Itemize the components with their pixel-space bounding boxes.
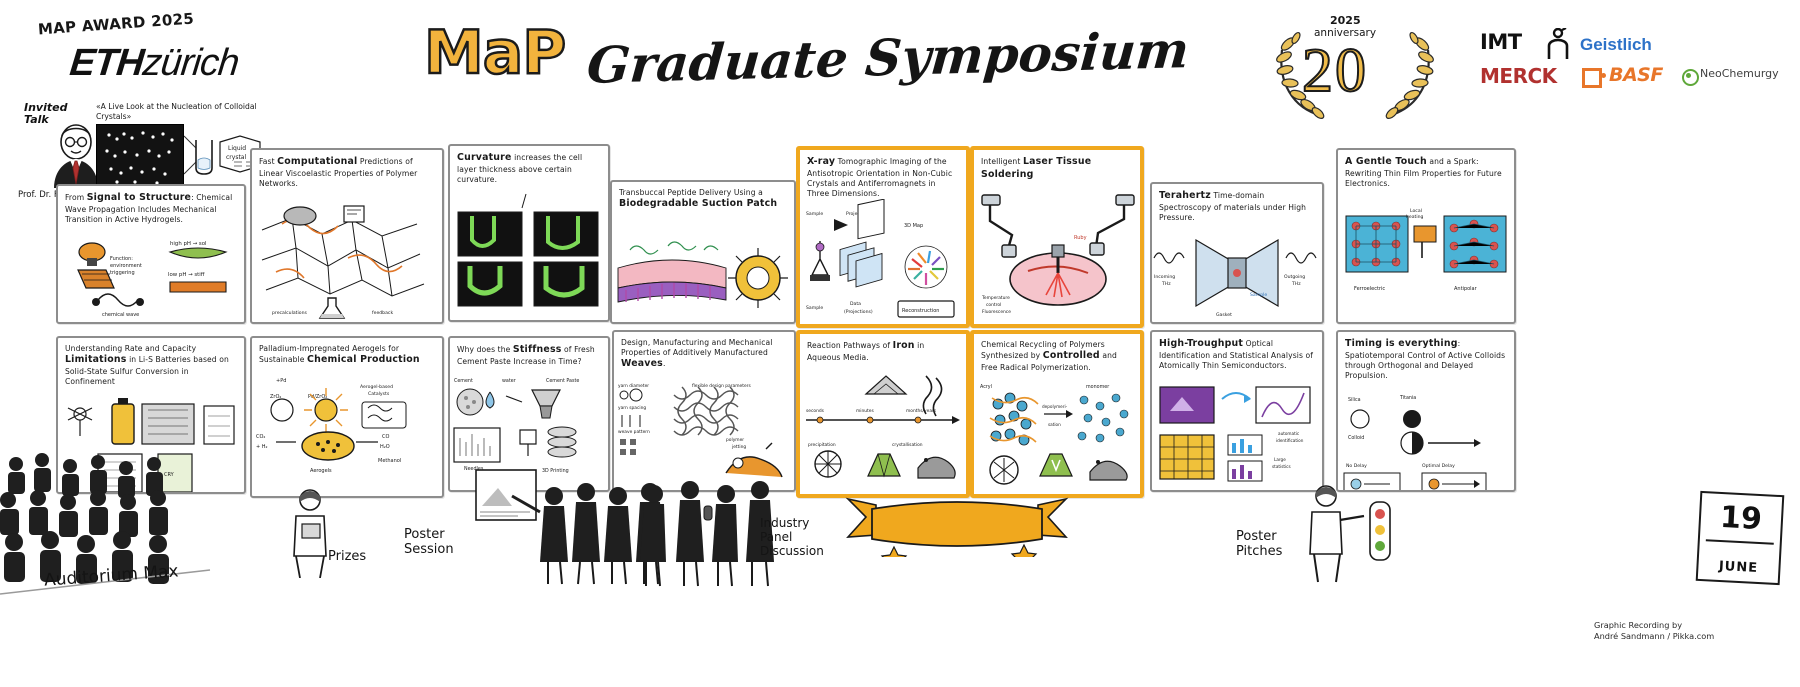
iron-pathway-timeline-icon: seconds minutes months/years precipitati… [800,363,966,489]
sponsor-logos: IMT Geistlich MERCK BASF NeoChemurgy [1480,28,1790,100]
svg-text:3D Map: 3D Map [904,223,923,229]
invited-talk-quote: «A Live Look at the Nucleation of Colloi… [96,102,266,122]
anniversary-badge: 2025 anniversary 20 [1270,8,1440,126]
semiconductor-analysis-icon: automatic identification Large statistic… [1152,371,1322,492]
calendar-day: 19 [1700,499,1782,538]
geistlich-mark-icon [1545,28,1571,60]
panel-title: Timing is everything: Spatiotemporal Con… [1338,332,1514,381]
neochemurgy-ring-icon [1682,69,1699,86]
svg-text:Function:: Function: [110,256,133,262]
panel-artwork [450,185,608,322]
prizes-person-illustration [280,486,340,578]
panel-artwork [612,211,794,317]
svg-text:weave pattern: weave pattern [618,429,650,435]
panel-artwork: Sample Projection 3D Map [800,199,966,328]
industry-panel-label: IndustryPanelDiscussion [760,517,824,558]
panel-a-gentle-touch[interactable]: A Gentle Touch and a Spark: Rewriting Th… [1336,148,1516,324]
poster-pitches-label: PosterPitches [1236,530,1282,560]
panel-title: Terahertz Time-domain Spectroscopy of ma… [1152,184,1322,223]
svg-text:Titania: Titania [1399,395,1416,401]
panel-artwork: precalculations feedback [252,189,442,324]
svg-text:Ruby: Ruby [1074,235,1087,241]
svg-text:heating: heating [1406,214,1424,220]
anniversary-number: 20 [1302,36,1368,107]
sponsor-logo-imt: IMT [1480,30,1522,54]
poster-session-label: PosterSession [404,528,454,558]
panel-chemical-recycling-polymers[interactable]: Chemical Recycling of Polymers Synthesiz… [970,330,1144,498]
panel-title: Chemical Recycling of Polymers Synthesiz… [974,334,1140,373]
svg-text:Aerogel-based: Aerogel-based [360,384,393,390]
svg-text:minutes: minutes [856,408,874,414]
panel-title: Reaction Pathways of Iron in Aqueous Med… [800,334,966,363]
svg-text:Cement Paste: Cement Paste [546,378,579,384]
svg-text:yarn spacing: yarn spacing [618,405,646,411]
calendar-divider [1706,539,1774,545]
panel-artwork: Local heating Ferroelectric Antipolar [1338,189,1514,324]
terahertz-anvil-cell-icon: Incoming THz Gasket Sample Outgoing THz [1152,223,1322,324]
neochemurgy-dot-icon [1686,73,1691,78]
panel-artwork: Incoming THz Gasket Sample Outgoing THz [1152,223,1322,324]
panel-terahertz-spectroscopy[interactable]: Terahertz Time-domain Spectroscopy of ma… [1150,182,1324,324]
svg-text:Sample: Sample [806,211,823,217]
svg-text:Large: Large [1274,457,1286,462]
svg-text:low pH → stiff: low pH → stiff [168,272,205,278]
panel-title: Why does the Stiffness of Fresh Cement P… [450,338,608,367]
svg-text:Reconstruction: Reconstruction [902,308,939,314]
laurel-right-icon [1384,24,1438,120]
hydrogel-signal-diagram-icon: Function: environment triggering high pH… [58,225,244,324]
panel-biodegradable-suction-patch[interactable]: Transbuccal Peptide Delivery Using a Bio… [610,180,796,324]
panel-title: X-ray Tomographic Imaging of the Antisot… [800,150,966,199]
svg-text:Local: Local [1410,208,1422,214]
panel-artwork: Function: environment triggering high pH… [58,225,244,324]
panel-artwork: Silica Titania Colloid No Delay Optimal … [1338,381,1514,492]
page-title: Graduate Symposium [585,20,1191,95]
svg-text:(Projections): (Projections) [844,309,873,315]
panel-title: Intelligent Laser Tissue Soldering [974,150,1140,181]
panel-artwork: Acryl monomer depolymeri- sation [974,373,1140,498]
award-ribbon-label: MAP AWARD 2025 [22,8,211,39]
svg-text:Temperature: Temperature [981,295,1010,301]
crystal-dots-icon [97,125,183,189]
svg-text:crystal: crystal [226,154,246,161]
svg-text:precalculations: precalculations [272,310,307,316]
svg-text:Sample: Sample [806,305,823,311]
panel-artwork: automatic identification Large statistic… [1152,371,1322,492]
svg-text:polymer: polymer [726,437,744,443]
svg-text:Liquid: Liquid [228,145,246,152]
basf-dot-icon [1601,73,1606,78]
colloidal-crystal-micrograph [96,124,184,190]
panel-curvature[interactable]: Curvature increases the cell layer thick… [448,144,610,322]
basf-square-icon [1582,68,1602,88]
svg-text:No Delay: No Delay [1346,463,1367,469]
svg-text:Cement: Cement [454,378,473,384]
panel-title: Fast Computational Predictions of Linear… [252,150,442,189]
svg-text:Optimal Delay: Optimal Delay [1422,463,1455,469]
svg-text:H₂O: H₂O [380,444,390,450]
panel-fast-computational[interactable]: Fast Computational Predictions of Linear… [250,148,444,324]
sponsor-logo-geistlich: Geistlich [1580,35,1652,55]
graphic-recording-credit: Graphic Recording byAndré Sandmann / Pik… [1594,620,1714,642]
poster-pitches-illustration [1300,480,1420,584]
svg-text:Colloid: Colloid [1348,435,1364,441]
svg-text:Methanol: Methanol [378,458,401,464]
eth-zurich-logo: ETHzürich [68,42,241,85]
tomography-diagram-icon: Sample Projection 3D Map [800,199,966,328]
panel-high-throughput-semiconductors[interactable]: High-Troughput Optical Identification an… [1150,330,1324,492]
panel-timing-is-everything[interactable]: Timing is everything: Spatiotemporal Con… [1336,330,1516,492]
svg-text:sation: sation [1048,422,1061,427]
sponsor-logo-merck: MERCK [1480,64,1557,88]
laser-soldering-robot-icon: Ruby Temperature control Fluorescence [974,181,1140,321]
svg-text:Gasket: Gasket [1216,312,1232,318]
svg-text:Antipolar: Antipolar [1454,286,1478,292]
svg-text:automatic: automatic [1278,431,1300,436]
svg-text:water: water [502,378,516,384]
panel-title: Understanding Rate and Capacity Limitati… [58,338,244,387]
anniversary-year: 2025 [1330,14,1361,27]
svg-text:Catalysts: Catalysts [368,391,390,397]
svg-text:THz: THz [1291,281,1301,287]
svg-text:feedback: feedback [372,310,393,316]
panel-x-ray-tomographic[interactable]: X-ray Tomographic Imaging of the Antisot… [796,146,970,328]
svg-text:jetting: jetting [731,444,746,450]
svg-text:seconds: seconds [806,408,825,414]
svg-text:high pH → sol: high pH → sol [170,241,207,247]
svg-text:CO: CO [382,434,389,440]
svg-text:triggering: triggering [110,270,135,276]
svg-text:chemical wave: chemical wave [102,312,139,318]
svg-text:Fluorescence: Fluorescence [982,309,1011,315]
calendar-month: JUNE [1698,558,1779,577]
polymer-network-diagram-icon: precalculations feedback [252,189,442,324]
svg-text:+Pd: +Pd [276,378,286,384]
svg-text:Outgoing: Outgoing [1284,274,1305,280]
panel-artwork: Ruby Temperature control Fluorescence [974,181,1140,321]
graphic-recording-poster: ETHzürich MaP Graduate Symposium [0,0,1800,687]
active-colloids-diagram-icon: Silica Titania Colloid No Delay Optimal … [1338,381,1514,492]
panel-title: High-Troughput Optical Identification an… [1152,332,1322,371]
eth-logo-bold: ETH [68,42,145,84]
svg-text:control: control [986,302,1001,308]
cell-curvature-grid-icon [450,185,608,322]
svg-text:monomer: monomer [1086,384,1109,390]
svg-text:Incoming: Incoming [1154,274,1175,280]
suction-patch-tissue-icon [612,211,794,317]
svg-text:Data: Data [850,301,861,307]
event-date-calendar: 19 JUNE [1696,491,1785,585]
panel-title: Curvature increases the cell layer thick… [450,146,608,185]
svg-text:statistics: statistics [1272,464,1291,469]
panel-title: From Signal to Structure: Chemical Wave … [58,186,244,225]
prizes-label: Prizes [328,549,366,564]
panel-title: Design, Manufacturing and Mechanical Pro… [614,332,794,371]
map-award-ribbon [842,495,1072,557]
svg-text:Silica: Silica [1348,397,1361,403]
panel-title: A Gentle Touch and a Spark: Rewriting Th… [1338,150,1514,189]
polymer-depolymerisation-icon: Acryl monomer depolymeri- sation [974,373,1140,498]
panel-laser-tissue-soldering[interactable]: Intelligent Laser Tissue Soldering [970,146,1144,328]
svg-text:identification: identification [1276,438,1304,443]
map-logo: MaP [424,18,565,88]
svg-text:flexible design parameters: flexible design parameters [692,383,751,389]
panel-artwork: seconds minutes months/years precipitati… [800,363,966,489]
svg-text:Ferroelectric: Ferroelectric [1354,286,1385,292]
svg-text:crystallisation: crystallisation [892,442,923,448]
eth-logo-light: zürich [141,42,241,84]
thin-film-lattice-icon: Local heating Ferroelectric Antipolar [1338,189,1514,324]
svg-text:Aerogels: Aerogels [310,468,332,474]
svg-text:precipitation: precipitation [808,442,836,448]
svg-text:depolymeri-: depolymeri- [1042,404,1068,409]
svg-text:Sample: Sample [1250,292,1267,298]
svg-text:environment: environment [110,263,142,269]
sponsor-logo-basf: BASF [1609,64,1663,86]
panel-reaction-pathways-iron[interactable]: Reaction Pathways of Iron in Aqueous Med… [796,330,970,498]
panel-signal-to-structure[interactable]: From Signal to Structure: Chemical Wave … [56,184,246,324]
svg-text:THz: THz [1161,281,1171,287]
svg-text:CO₂: CO₂ [256,434,265,440]
panel-title: Transbuccal Peptide Delivery Using a Bio… [612,182,794,211]
panel-title: Palladium-Impregnated Aerogels for Susta… [252,338,442,367]
sponsor-logo-neochemurgy: NeoChemurgy [1700,67,1779,80]
svg-text:Acryl: Acryl [980,384,992,390]
svg-text:yarn diameter: yarn diameter [618,383,649,389]
svg-text:months/years: months/years [906,408,937,414]
